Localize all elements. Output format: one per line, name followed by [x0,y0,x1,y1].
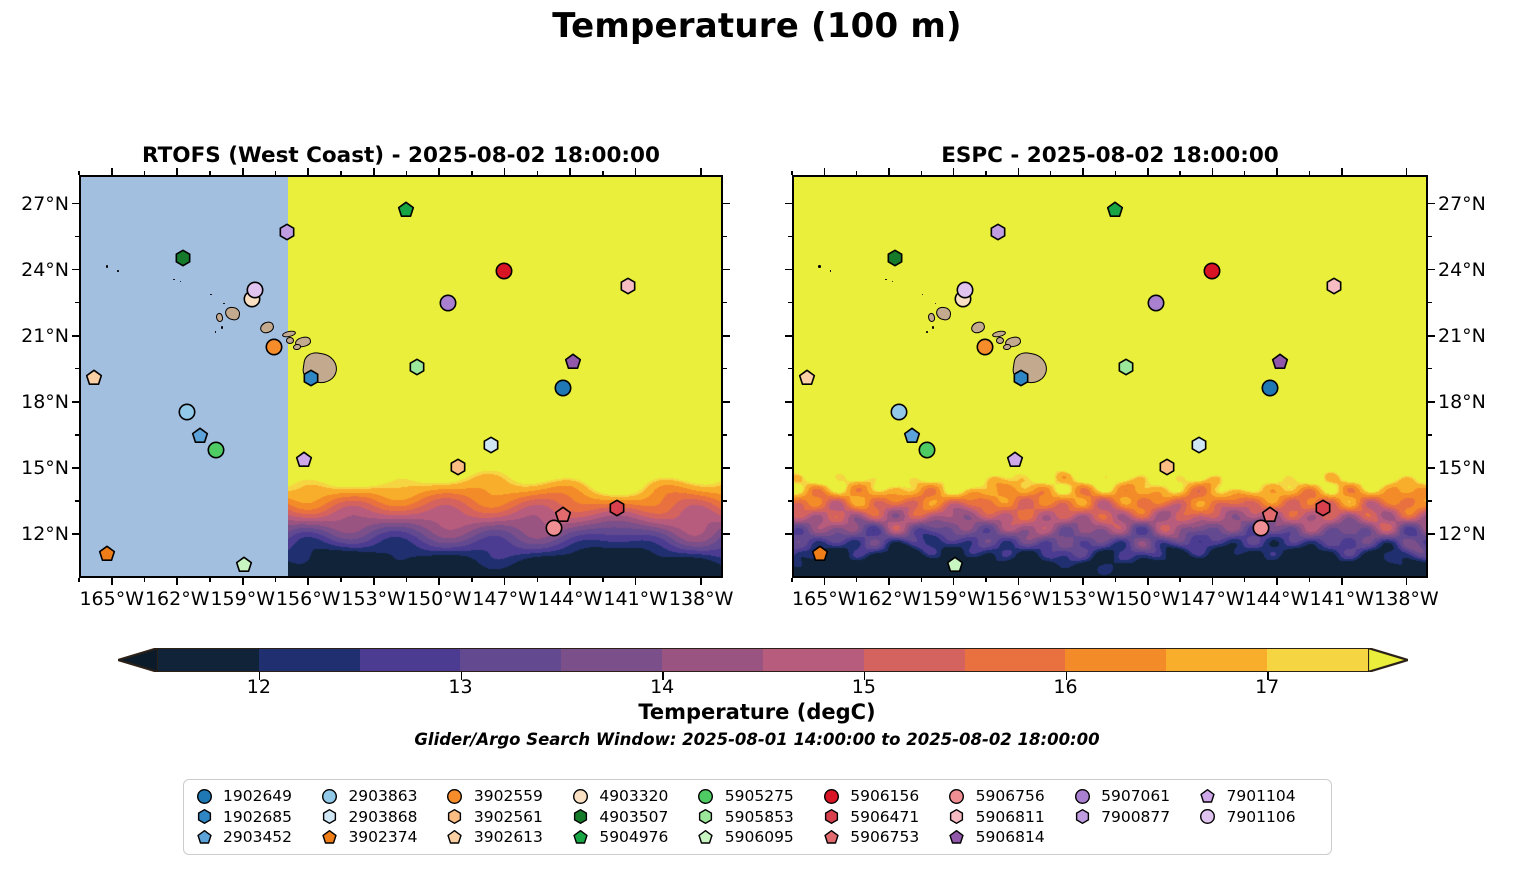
legend-marker-icon [445,789,465,804]
x-axis-minor-tick [1050,578,1051,582]
x-axis-tick [824,578,826,585]
float-marker-3902561[interactable] [450,458,467,475]
y-axis-minor-tick [75,434,79,435]
legend-item-label: 2903452 [223,828,292,846]
legend-marker-icon [194,789,214,804]
float-marker-1902685[interactable] [1013,369,1030,386]
x-axis-tick [1018,578,1020,585]
y-axis-minor-tick [75,368,79,369]
x-axis-tick-label: 144°W [1245,588,1310,610]
legend-marker-icon [319,789,339,804]
x-axis-tick-top [824,168,826,175]
legend-item-label: 3902559 [474,787,543,805]
float-id-legend[interactable]: 1902649290386339025594903320590527559061… [183,779,1332,855]
float-marker-5906095[interactable] [235,557,252,574]
x-axis-tick-label: 153°W [341,588,406,610]
legend-marker-icon [194,809,214,824]
y-axis-tick-label: 24°N [0,259,69,281]
float-marker-5906095[interactable] [946,557,963,574]
x-axis-tick [569,578,571,585]
y-axis-minor-tick-right [723,236,727,237]
float-marker-2903868[interactable] [483,437,500,454]
masked-region-rtofs [81,177,288,576]
legend-marker-icon [696,830,716,845]
legend-item-2903452[interactable]: 2903452 [194,828,319,846]
legend-item-5906811[interactable]: 5906811 [947,808,1072,826]
x-axis-minor-tick [78,578,79,582]
colorbar-tick-label: 15 [852,676,876,698]
legend-item-5905275[interactable]: 5905275 [696,787,821,805]
float-marker-3902613[interactable] [798,369,815,386]
y-axis-minor-tick-right [1428,368,1432,369]
y-axis-tick-label-right: 27°N [1438,193,1486,215]
x-axis-tick-top [953,168,955,175]
y-axis-minor-tick [788,236,792,237]
colorbar-tick-label: 13 [448,676,472,698]
y-axis-tick [72,533,79,535]
colorbar-gradient [158,648,1368,672]
x-axis-tick-top [1147,168,1149,175]
legend-item-label: 3902374 [348,828,417,846]
x-axis-minor-tick [1244,171,1245,175]
legend-item-7901104[interactable]: 7901104 [1198,787,1323,805]
x-axis-tick [373,578,375,585]
x-axis-minor-tick [78,171,79,175]
x-axis-minor-tick [406,171,407,175]
legend-item-label: 7900877 [1101,808,1170,826]
x-axis-minor-tick [340,171,341,175]
colorbar-segment [158,649,259,671]
y-axis-tick-label: 21°N [0,325,69,347]
islet-marker [106,265,109,268]
y-axis-tick [72,401,79,403]
y-axis-minor-tick-right [723,500,727,501]
float-marker-7901106[interactable] [246,282,263,299]
colorbar-extend-high-icon [1368,648,1408,672]
y-axis-tick-right [723,401,730,403]
x-axis-tick-label: 150°W [1115,588,1180,610]
x-axis-minor-tick [537,578,538,582]
x-axis-tick-label: 156°W [276,588,341,610]
x-axis-tick-label: 156°W [986,588,1051,610]
float-marker-7900877[interactable] [279,223,296,240]
y-axis-tick-label-right: 24°N [1438,259,1486,281]
legend-item-3902613[interactable]: 3902613 [445,828,570,846]
x-axis-tick [635,578,637,585]
y-axis-minor-tick [788,500,792,501]
legend-item-label: 3902561 [474,808,543,826]
island-lanai [286,337,294,344]
legend-marker-icon [319,809,339,824]
islet-marker [117,270,119,272]
x-axis-tick [1212,578,1214,585]
x-axis-tick-top [888,168,890,175]
x-axis-tick-label: 138°W [1374,588,1439,610]
float-marker-7901104[interactable] [1006,452,1023,469]
x-axis-tick [1147,578,1149,585]
colorbar[interactable] [118,648,1408,672]
x-axis-minor-tick [1179,171,1180,175]
y-axis-tick-right [723,533,730,535]
x-axis-minor-tick [1309,578,1310,582]
legend-item-label: 5906753 [850,828,919,846]
legend-marker-icon [445,830,465,845]
legend-marker-icon [570,809,590,824]
legend-item-label: 3902613 [474,828,543,846]
y-axis-tick [785,401,792,403]
float-marker-5907061[interactable] [439,295,456,312]
figure-canvas: Temperature (100 m) RTOFS (West Coast) -… [0,0,1514,889]
float-marker-3902374[interactable] [99,546,116,563]
legend-marker-icon [1198,809,1218,824]
legend-item-2903868[interactable]: 2903868 [319,808,444,826]
y-axis-tick [72,269,79,271]
x-axis-tick-label: 150°W [407,588,472,610]
float-marker-5906756[interactable] [545,520,562,537]
y-axis-tick [785,269,792,271]
y-axis-tick [785,203,792,205]
float-marker-5906811[interactable] [1325,278,1342,295]
x-axis-tick-label: 162°W [145,588,210,610]
x-axis-minor-tick [209,578,210,582]
legend-marker-icon [445,809,465,824]
x-axis-minor-tick [921,578,922,582]
x-axis-minor-tick [856,578,857,582]
y-axis-tick-label-right: 15°N [1438,457,1486,479]
colorbar-segment [763,649,864,671]
legend-item-5906156[interactable]: 5906156 [821,787,946,805]
x-axis-minor-tick [1050,171,1051,175]
y-axis-tick-label: 27°N [0,193,69,215]
y-axis-tick-right [723,335,730,337]
y-axis-tick [785,467,792,469]
legend-item-7901106[interactable]: 7901106 [1198,808,1323,826]
legend-item-3902374[interactable]: 3902374 [319,828,444,846]
legend-item-5906753[interactable]: 5906753 [821,828,946,846]
x-axis-tick [1276,578,1278,585]
x-axis-tick-top [438,168,440,175]
float-marker-1902685[interactable] [302,369,319,386]
x-axis-minor-tick [1179,578,1180,582]
x-axis-tick-top [504,168,506,175]
islet-marker [221,326,223,328]
legend-item-label: 5906471 [850,808,919,826]
x-axis-tick [504,578,506,585]
float-marker-5906814[interactable] [565,354,582,371]
y-axis-tick [72,203,79,205]
y-axis-tick-label: 12°N [0,523,69,545]
legend-item-label: 7901106 [1227,808,1296,826]
float-marker-5906811[interactable] [619,278,636,295]
x-axis-minor-tick [985,171,986,175]
colorbar-tick-label: 12 [247,676,271,698]
legend-item-label: 1902649 [223,787,292,805]
float-marker-4903507[interactable] [174,249,191,266]
float-marker-7900877[interactable] [989,223,1006,240]
x-axis-minor-tick [921,171,922,175]
colorbar-tick-label: 14 [650,676,674,698]
x-axis-minor-tick [471,171,472,175]
x-axis-minor-tick [1115,578,1116,582]
legend-item-1902649[interactable]: 1902649 [194,787,319,805]
x-axis-tick-top [307,168,309,175]
y-axis-tick-right [1428,401,1435,403]
colorbar-segment [1166,649,1267,671]
float-marker-3902374[interactable] [811,546,828,563]
legend-marker-icon [1198,789,1218,804]
legend-marker-icon [947,809,967,824]
x-axis-tick [953,578,955,585]
y-axis-tick-right [1428,203,1435,205]
island-lanai [996,337,1004,344]
float-marker-3902613[interactable] [86,369,103,386]
x-axis-tick-top [176,168,178,175]
float-marker-3902559[interactable] [266,339,283,356]
legend-marker-icon [696,809,716,824]
x-axis-tick-top [373,168,375,175]
y-axis-tick [72,467,79,469]
colorbar-segment [1065,649,1166,671]
legend-marker-icon [821,830,841,845]
colorbar-segment [360,649,461,671]
x-axis-tick-top [1018,168,1020,175]
float-marker-5906156[interactable] [496,262,513,279]
map-panel-espc[interactable] [792,175,1428,578]
legend-marker-icon [821,809,841,824]
colorbar-segment [864,649,965,671]
x-axis-tick [307,578,309,585]
y-axis-minor-tick [75,302,79,303]
legend-marker-icon [821,789,841,804]
x-axis-minor-tick [406,578,407,582]
x-axis-tick [176,578,178,585]
y-axis-minor-tick [788,368,792,369]
legend-item-label: 5906156 [850,787,919,805]
y-axis-tick-label: 18°N [0,391,69,413]
y-axis-minor-tick-right [723,434,727,435]
legend-marker-icon [947,830,967,845]
legend-item-label: 5906814 [976,828,1045,846]
x-axis-tick-label: 165°W [79,588,144,610]
x-axis-tick [1406,578,1408,585]
x-axis-minor-tick [275,171,276,175]
y-axis-tick-right [723,203,730,205]
y-axis-tick-label-right: 18°N [1438,391,1486,413]
legend-marker-icon [696,789,716,804]
x-axis-tick [1341,578,1343,585]
float-marker-7901106[interactable] [957,282,974,299]
legend-marker-icon [319,830,339,845]
y-axis-minor-tick [788,434,792,435]
y-axis-tick-right [1428,269,1435,271]
y-axis-minor-tick-right [1428,500,1432,501]
legend-marker-icon [947,789,967,804]
y-axis-minor-tick-right [1428,434,1432,435]
legend-item-label: 4903507 [599,808,668,826]
legend-item-5906756[interactable]: 5906756 [947,787,1072,805]
x-axis-tick [700,578,702,585]
y-axis-minor-tick [788,302,792,303]
legend-item-5905853[interactable]: 5905853 [696,808,821,826]
y-axis-tick-right [723,269,730,271]
x-axis-tick-label: 165°W [792,588,857,610]
legend-item-5904976[interactable]: 5904976 [570,828,695,846]
y-axis-minor-tick [75,500,79,501]
panel-title-espc: ESPC - 2025-08-02 18:00:00 [792,143,1428,168]
legend-item-5906095[interactable]: 5906095 [696,828,821,846]
legend-item-label: 5906095 [725,828,794,846]
y-axis-tick-label-right: 21°N [1438,325,1486,347]
x-axis-tick-label: 141°W [1309,588,1374,610]
y-axis-minor-tick [75,236,79,237]
legend-item-4903507[interactable]: 4903507 [570,808,695,826]
float-marker-2903863[interactable] [179,404,196,421]
colorbar-extend-low-icon [118,648,158,672]
legend-item-1902685[interactable]: 1902685 [194,808,319,826]
float-marker-2903863[interactable] [890,404,907,421]
x-axis-tick-top [700,168,702,175]
legend-item-label: 5906756 [976,787,1045,805]
x-axis-tick-top [111,168,113,175]
legend-marker-icon [570,830,590,845]
x-axis-tick-top [1082,168,1084,175]
x-axis-minor-tick [1244,578,1245,582]
x-axis-minor-tick [209,171,210,175]
colorbar-segment [965,649,1066,671]
x-axis-tick-top [569,168,571,175]
legend-marker-icon [194,830,214,845]
legend-item-3902561[interactable]: 3902561 [445,808,570,826]
x-axis-minor-tick [275,578,276,582]
x-axis-tick [1082,578,1084,585]
y-axis-tick-right [723,467,730,469]
float-marker-5905853[interactable] [1118,358,1135,375]
islet-marker [830,270,832,272]
x-axis-tick-top [1341,168,1343,175]
legend-item-label: 5906811 [976,808,1045,826]
y-axis-tick [785,335,792,337]
x-axis-minor-tick [471,578,472,582]
colorbar-segment [662,649,763,671]
x-axis-minor-tick [1115,171,1116,175]
legend-item-7900877[interactable]: 7900877 [1072,808,1197,826]
x-axis-tick-top [1406,168,1408,175]
legend-item-5906814[interactable]: 5906814 [947,828,1072,846]
float-marker-5904976[interactable] [1107,201,1124,218]
float-marker-3902561[interactable] [1158,458,1175,475]
legend-item-label: 5904976 [599,828,668,846]
legend-item-5907061[interactable]: 5907061 [1072,787,1197,805]
y-axis-minor-tick-right [1428,302,1432,303]
x-axis-tick-top [1212,168,1214,175]
map-panel-rtofs[interactable] [79,175,723,578]
x-axis-minor-tick [144,171,145,175]
page-title: Temperature (100 m) [0,6,1514,46]
float-marker-5906814[interactable] [1272,354,1289,371]
x-axis-tick-label: 159°W [921,588,986,610]
legend-item-label: 5907061 [1101,787,1170,805]
legend-item-3902559[interactable]: 3902559 [445,787,570,805]
legend-item-label: 2903863 [348,787,417,805]
x-axis-tick-label: 141°W [603,588,668,610]
x-axis-tick-top [1276,168,1278,175]
x-axis-tick-label: 144°W [538,588,603,610]
x-axis-tick-label: 153°W [1051,588,1116,610]
float-marker-5906756[interactable] [1253,520,1270,537]
legend-marker-icon [570,789,590,804]
colorbar-segment [1267,649,1368,671]
colorbar-tick-label: 17 [1255,676,1279,698]
search-window-caption: Glider/Argo Search Window: 2025-08-01 14… [0,730,1514,749]
float-marker-4903507[interactable] [886,249,903,266]
colorbar-tick-label: 16 [1053,676,1077,698]
y-axis-tick-right [1428,467,1435,469]
y-axis-tick-label: 15°N [0,457,69,479]
legend-item-4903320[interactable]: 4903320 [570,787,695,805]
float-marker-5906471[interactable] [1315,500,1332,517]
y-axis-minor-tick-right [723,302,727,303]
float-marker-1902649[interactable] [554,380,571,397]
x-axis-minor-tick [537,171,538,175]
legend-item-label: 5905853 [725,808,794,826]
legend-item-label: 2903868 [348,808,417,826]
x-axis-tick [888,578,890,585]
float-marker-5905275[interactable] [207,441,224,458]
legend-item-label: 5905275 [725,787,794,805]
float-marker-7901104[interactable] [296,452,313,469]
float-marker-5905275[interactable] [918,441,935,458]
legend-item-label: 4903320 [599,787,668,805]
x-axis-tick-label: 147°W [1180,588,1245,610]
colorbar-segment [460,649,561,671]
x-axis-tick-top [635,168,637,175]
legend-marker-icon [1072,789,1092,804]
y-axis-minor-tick-right [1428,236,1432,237]
colorbar-segment [259,649,360,671]
legend-item-5906471[interactable]: 5906471 [821,808,946,826]
islet-marker [818,265,821,268]
x-axis-tick [242,578,244,585]
y-axis-tick-right [1428,335,1435,337]
x-axis-minor-tick [985,578,986,582]
float-marker-5906156[interactable] [1203,262,1220,279]
legend-grid: 1902649290386339025594903320590527559061… [194,786,1323,848]
legend-marker-icon [1072,809,1092,824]
float-marker-1902649[interactable] [1261,380,1278,397]
float-marker-5905853[interactable] [409,358,426,375]
panel-title-rtofs: RTOFS (West Coast) - 2025-08-02 18:00:00 [79,143,723,168]
x-axis-minor-tick [856,171,857,175]
islet-marker [926,331,928,333]
x-axis-tick [438,578,440,585]
colorbar-segment [561,649,662,671]
float-marker-5904976[interactable] [398,201,415,218]
legend-item-2903863[interactable]: 2903863 [319,787,444,805]
colorbar-axis-label: Temperature (degC) [0,700,1514,724]
x-axis-tick-label: 162°W [857,588,922,610]
y-axis-tick-label-right: 12°N [1438,523,1486,545]
x-axis-minor-tick [602,171,603,175]
float-marker-3902559[interactable] [976,339,993,356]
x-axis-tick-label: 138°W [669,588,734,610]
x-axis-minor-tick [602,578,603,582]
float-marker-2903868[interactable] [1190,437,1207,454]
float-marker-5906471[interactable] [608,500,625,517]
x-axis-minor-tick [791,171,792,175]
x-axis-tick-label: 147°W [472,588,537,610]
x-axis-minor-tick [144,578,145,582]
float-marker-5907061[interactable] [1148,295,1165,312]
